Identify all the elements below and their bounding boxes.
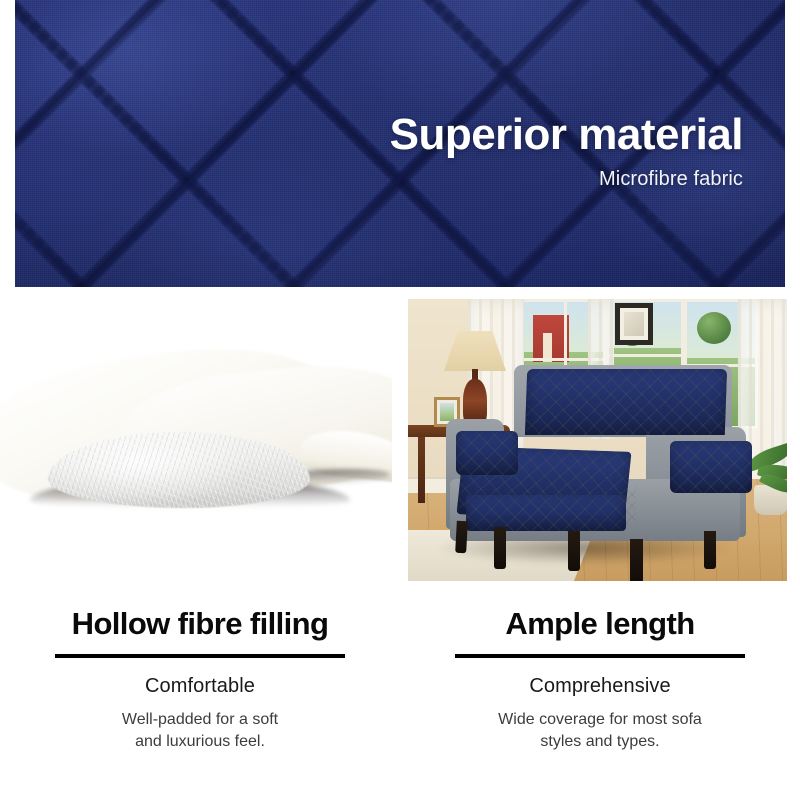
cover-arm-right-panel	[670, 441, 752, 493]
hollow-fibre-filling-photo	[0, 292, 392, 588]
feature-column-ample-length: Ample length Comprehensive Wide coverage…	[400, 598, 800, 754]
sofa-leg	[568, 531, 580, 571]
feature-column-hollow-fibre-filling: Hollow fibre filling Comfortable Well-pa…	[0, 598, 400, 754]
feature-body: Well-padded for a softand luxurious feel…	[0, 709, 400, 754]
cover-seat-panel-front	[466, 495, 626, 531]
white-backdrop-fade	[0, 498, 392, 588]
feature-body: Wide coverage for most sofastyles and ty…	[400, 709, 800, 754]
sofa-room-photo	[408, 299, 787, 581]
wall-art-frame	[615, 303, 653, 345]
feature-subtitle: Comprehensive	[400, 675, 800, 698]
feature-title: Hollow fibre filling	[0, 606, 400, 642]
sofa-leg	[455, 521, 468, 554]
feature-divider	[455, 654, 745, 658]
hero-banner: Superior material Microfibre fabric	[15, 0, 785, 287]
hero-title: Superior material	[390, 112, 743, 158]
cover-arm-left-panel	[456, 431, 518, 475]
window-mullion-horizontal	[609, 354, 681, 357]
sofa-leg	[630, 539, 643, 581]
hero-text-block: Superior material Microfibre fabric	[390, 112, 743, 191]
feature-title: Ample length	[400, 606, 800, 642]
feature-divider	[55, 654, 345, 658]
sofa-leg	[704, 531, 716, 569]
feature-columns: Hollow fibre filling Comfortable Well-pa…	[0, 598, 800, 800]
side-table-leg	[418, 437, 425, 503]
photo-row	[0, 292, 800, 588]
window-tree	[697, 312, 731, 344]
hero-subtitle: Microfibre fabric	[390, 168, 743, 191]
feature-subtitle: Comfortable	[0, 675, 400, 698]
sofa-leg	[494, 527, 506, 569]
cover-backrest-panel	[525, 369, 727, 435]
